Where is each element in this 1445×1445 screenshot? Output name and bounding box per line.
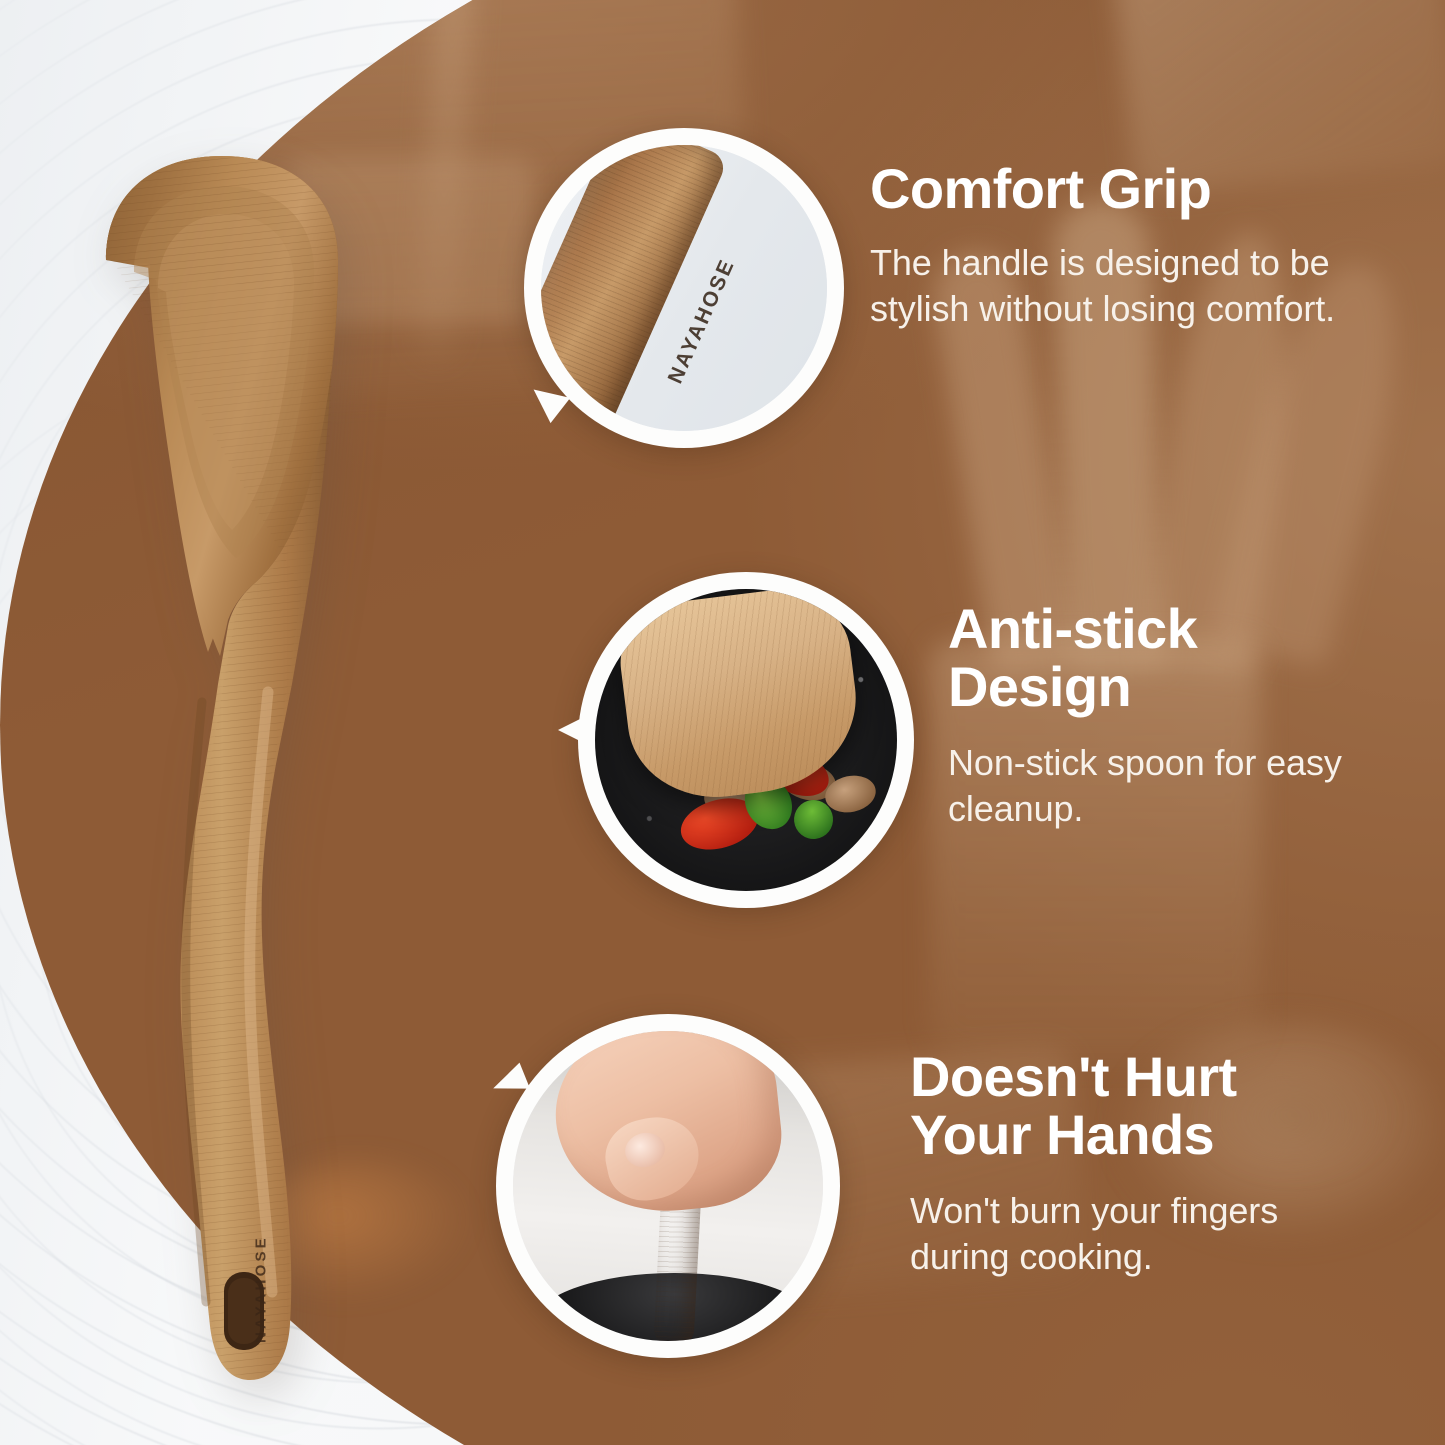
- feature-1-description: The handle is designed to be stylish wit…: [870, 240, 1344, 331]
- feature-3-text: Doesn't Hurt Your Hands Won't burn your …: [840, 1014, 1320, 1279]
- feature-1-text: Comfort Grip The handle is designed to b…: [844, 128, 1344, 331]
- spoon-in-pan-photo: [595, 589, 897, 891]
- hand-holding-handle-photo: SE: [513, 1031, 823, 1341]
- feature-anti-stick-design: Anti-stick Design Non-stick spoon for ea…: [578, 572, 1344, 908]
- product-brand-engraving: NAYAHOSE: [244, 1204, 278, 1374]
- feature-2-text: Anti-stick Design Non-stick spoon for ea…: [914, 572, 1344, 831]
- feature-3-photo-circle: SE: [496, 1014, 840, 1358]
- feature-2-title: Anti-stick Design: [948, 600, 1344, 716]
- feature-2-description: Non-stick spoon for easy cleanup.: [948, 740, 1344, 831]
- feature-doesnt-hurt-your-hands: SE Doesn't Hurt Your Hands Won't burn yo…: [496, 1014, 1320, 1358]
- feature-3-title: Doesn't Hurt Your Hands: [910, 1048, 1320, 1164]
- main-product-spoon: NAYAHOSE: [72, 132, 372, 1402]
- feature-1-photo-circle: NAYAHOSE: [524, 128, 844, 448]
- feature-2-photo-circle: [578, 572, 914, 908]
- product-infographic: NAYAHOSE NAYAHOSE Comfort Grip The handl…: [0, 0, 1445, 1445]
- feature-3-description: Won't burn your fingers during cooking.: [910, 1188, 1320, 1279]
- feature-comfort-grip: NAYAHOSE Comfort Grip The handle is desi…: [524, 128, 1344, 448]
- handle-closeup-photo: NAYAHOSE: [541, 145, 827, 431]
- feature-1-title: Comfort Grip: [870, 160, 1344, 218]
- feature-2-pointer: [558, 712, 594, 748]
